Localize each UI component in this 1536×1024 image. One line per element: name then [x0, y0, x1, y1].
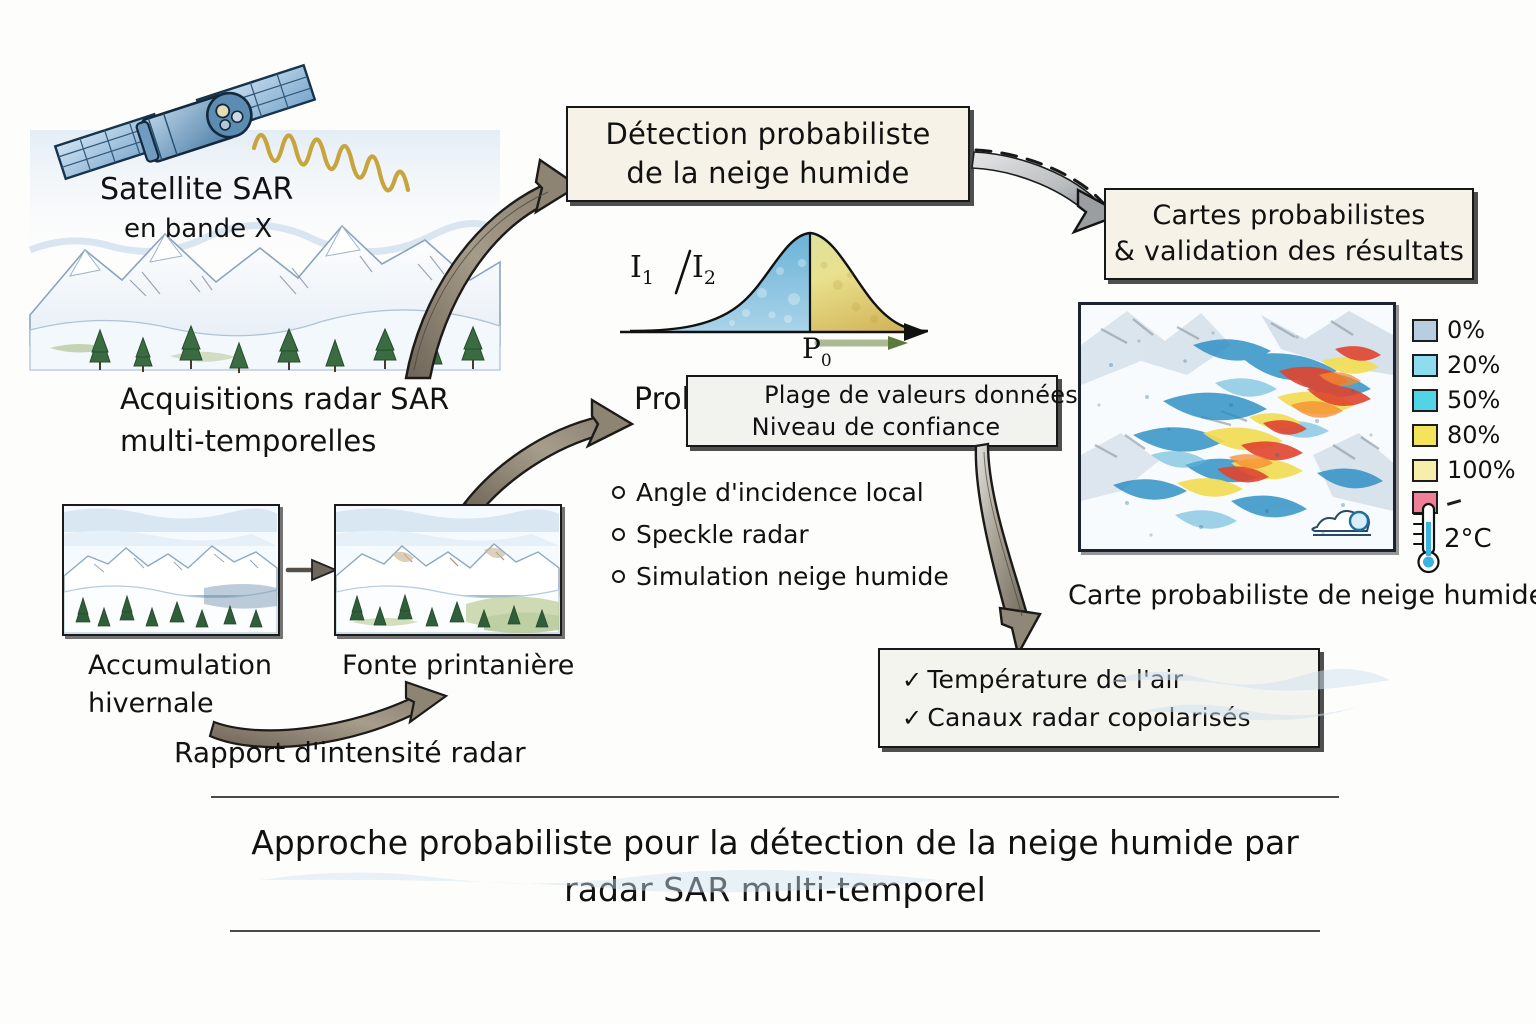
thermometer-group: 2°C	[1408, 500, 1492, 578]
validation-label: Température de l'air	[927, 665, 1183, 694]
list-item[interactable]: Angle d'incidence local	[612, 478, 949, 507]
bullet-icon	[612, 570, 625, 583]
maps-box-line2: & validation des résultats	[1114, 234, 1464, 270]
thumb1-caption-line2: hivernale	[88, 688, 214, 719]
legend-label: 100%	[1447, 456, 1516, 484]
intensity-ratio-caption: Rapport d'intensité radar	[174, 736, 526, 769]
svg-text:P0: P0	[802, 332, 832, 371]
bullet-icon	[612, 486, 625, 499]
cartes-probabilistes-box[interactable]: Cartes probabilistes & validation des ré…	[1104, 188, 1474, 280]
legend-label: 50%	[1447, 386, 1500, 414]
legend-swatch	[1412, 424, 1438, 447]
validation-item[interactable]: ✓ Température de l'air	[902, 665, 1183, 694]
caption-rule-top	[211, 796, 1339, 798]
check-icon: ✓	[902, 666, 922, 694]
arrow-probability-to-validation	[978, 438, 1108, 658]
spring-melt-illustration	[336, 506, 559, 633]
legend-item[interactable]: 100%	[1412, 456, 1516, 484]
winter-snow-illustration	[64, 506, 277, 633]
threshold-label: P0	[800, 330, 860, 374]
arrow-intensity-ratio-loop	[210, 670, 460, 742]
validation-label: Canaux radar copolarisés	[927, 703, 1250, 732]
map-legend: 0% 20% 50% 80% 100%	[1412, 316, 1516, 521]
check-icon: ✓	[902, 704, 922, 732]
legend-swatch	[1412, 319, 1438, 342]
thumbnail-accumulation-hivernale[interactable]	[62, 504, 280, 636]
list-item[interactable]: Speckle radar	[612, 520, 949, 549]
bullet-icon	[612, 528, 625, 541]
acquisitions-label-line2: multi-temporelles	[120, 424, 376, 458]
satellite-label-line2: en bande X	[124, 214, 272, 244]
probability-box-line2: Niveau de confiance	[752, 411, 1001, 443]
legend-swatch	[1412, 354, 1438, 377]
thumbnail-fonte-printaniere[interactable]	[334, 504, 562, 636]
maps-box-line1: Cartes probabilistes	[1152, 198, 1425, 234]
map-caption: Carte probabiliste de neige humide	[1068, 580, 1536, 611]
factors-list: Angle d'incidence local Speckle radar Si…	[612, 478, 949, 604]
map-raster	[1081, 305, 1393, 549]
validation-panel[interactable]: ✓ Température de l'air ✓ Canaux radar co…	[878, 648, 1320, 748]
satellite-label-line1: Satellite SAR	[100, 172, 293, 207]
legend-label: 20%	[1447, 351, 1500, 379]
validation-item[interactable]: ✓ Canaux radar copolarisés	[902, 703, 1251, 732]
thermometer-value: 2°C	[1444, 524, 1492, 554]
thermometer-icon	[1408, 500, 1442, 578]
ratio-denominator: I2	[692, 250, 716, 289]
intensity-ratio-label: I1 I2	[628, 243, 728, 305]
detection-box-line1: Détection probabiliste	[605, 115, 930, 154]
probabilistic-snow-map[interactable]	[1078, 302, 1396, 552]
legend-swatch	[1412, 389, 1438, 412]
ratio-numerator: I1	[630, 250, 654, 289]
probability-values-box[interactable]: Plage de valeurs données Niveau de confi…	[686, 375, 1058, 447]
factor-label: Simulation neige humide	[636, 562, 949, 591]
factor-label: Speckle radar	[636, 520, 809, 549]
legend-label: 80%	[1447, 421, 1500, 449]
detection-probabiliste-box[interactable]: Détection probabiliste de la neige humid…	[566, 106, 970, 202]
factor-label: Angle d'incidence local	[636, 478, 924, 507]
caption-line1: Approche probabiliste pour la détection …	[210, 820, 1340, 867]
diagram-canvas: Satellite SAR en bande X Acquisitions ra…	[0, 0, 1536, 1024]
legend-label: 0%	[1447, 316, 1485, 344]
legend-item[interactable]: 80%	[1412, 421, 1516, 449]
arrow-between-thumbnails	[286, 552, 338, 588]
legend-swatch	[1412, 459, 1438, 482]
caption-rule-bottom	[230, 930, 1320, 932]
detection-box-line2: de la neige humide	[626, 154, 909, 193]
caption-line2: radar SAR multi-temporel	[210, 867, 1340, 914]
legend-item[interactable]: 50%	[1412, 386, 1516, 414]
legend-item[interactable]: 20%	[1412, 351, 1516, 379]
legend-item[interactable]: 0%	[1412, 316, 1516, 344]
figure-caption: Approche probabiliste pour la détection …	[210, 796, 1340, 932]
list-item[interactable]: Simulation neige humide	[612, 562, 949, 591]
probability-box-line1: Plage de valeurs données	[764, 379, 1078, 411]
